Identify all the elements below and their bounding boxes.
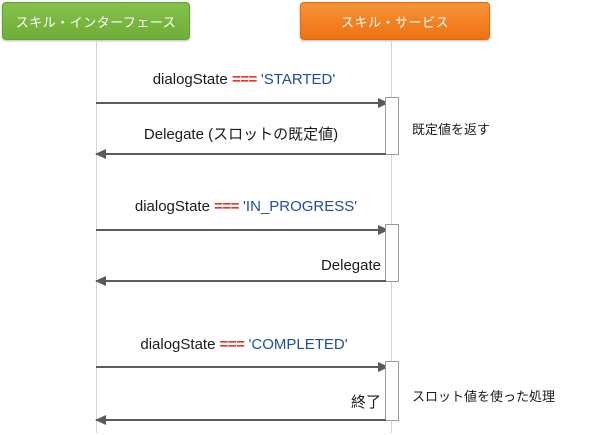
arrow-head-left-icon [95,276,106,286]
participant-label: スキル・サービス [341,12,449,31]
arrow-shaft [96,229,388,231]
token-string: 'IN_PROGRESS' [243,198,357,215]
token-operator: === [214,198,239,215]
arrow-shaft [96,280,386,282]
note-group-1: 既定値を返す [412,119,490,138]
message-arrow-request-2 [96,225,388,236]
message-arrow-request-3 [96,362,388,373]
message-label-response-1: Delegate (スロットの既定値) [96,127,386,144]
activation-bar-1 [385,97,399,155]
arrow-head-left-icon [95,149,106,159]
token-string: 'COMPLETED' [249,336,348,353]
message-label-request-1: dialogState === 'STARTED' [96,72,392,89]
message-arrow-response-1 [96,149,386,160]
response-text: Delegate (スロットの既定値) [144,126,338,143]
token-operator: === [232,71,257,88]
message-arrow-request-1 [96,98,388,109]
message-arrow-response-2 [96,276,386,287]
message-arrow-response-3 [96,415,386,426]
response-text: Delegate [321,257,381,274]
token-identifier: dialogState [153,71,228,88]
arrow-shaft [96,102,388,104]
message-label-request-2: dialogState === 'IN_PROGRESS' [96,199,396,216]
token-operator: === [220,336,245,353]
token-identifier: dialogState [135,198,210,215]
token-string: 'STARTED' [261,71,335,88]
response-text: 終了 [351,394,381,411]
participant-label: スキル・インターフェース [16,12,177,31]
arrow-shaft [96,419,386,421]
message-label-response-2: Delegate [96,258,381,275]
arrow-head-left-icon [95,415,106,425]
token-identifier: dialogState [140,336,215,353]
sequence-diagram: スキル・インターフェース スキル・サービス dialogState === 'S… [0,0,600,435]
message-label-response-3: 終了 [96,395,381,412]
note-group-3: スロット値を使った処理 [412,386,555,405]
arrow-shaft [96,153,386,155]
activation-bar-2 [385,224,399,282]
message-label-request-3: dialogState === 'COMPLETED' [96,337,392,354]
activation-bar-3 [385,361,399,421]
arrow-shaft [96,366,388,368]
participant-skill-service[interactable]: スキル・サービス [300,2,490,40]
participant-skill-interface[interactable]: スキル・インターフェース [2,2,190,40]
